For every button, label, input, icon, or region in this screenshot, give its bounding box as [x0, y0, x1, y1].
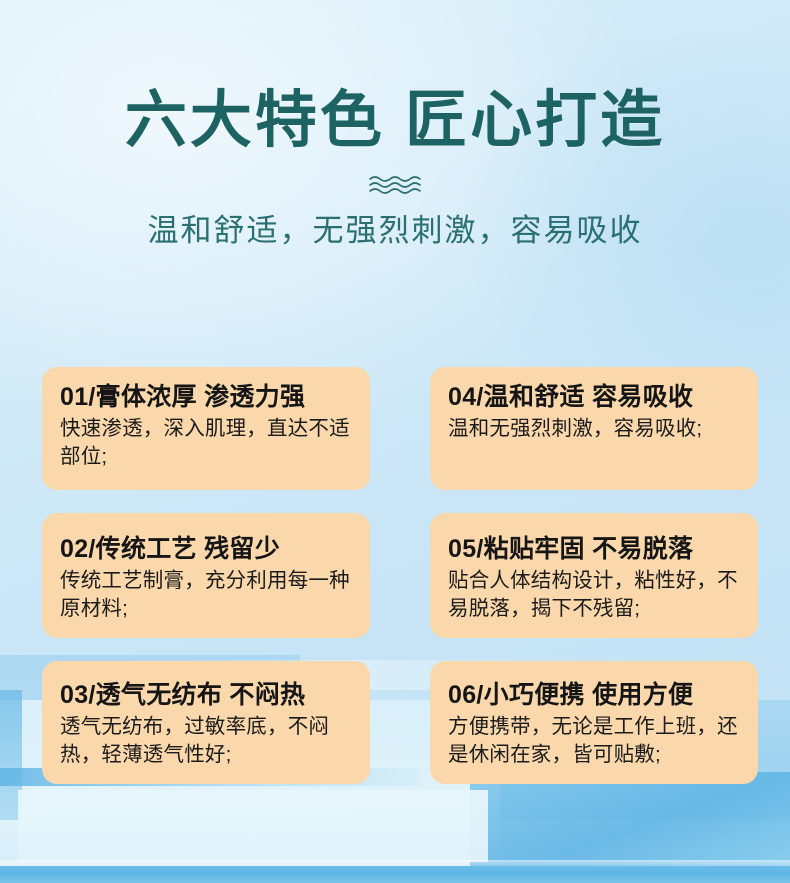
feature-title: 03/透气无纺布 不闷热	[60, 679, 354, 711]
feature-card-06: 06/小巧便携 使用方便 方便携带，无论是工作上班，还是休闲在家，皆可贴敷;	[430, 661, 758, 784]
feature-description: 温和无强烈刺激，容易吸收;	[448, 415, 742, 443]
geometric-stripe-left	[0, 690, 22, 820]
feature-description: 方便携带，无论是工作上班，还是休闲在家，皆可贴敷;	[448, 713, 742, 770]
bottom-rail	[0, 866, 790, 883]
feature-card-01: 01/膏体浓厚 渗透力强 快速渗透，深入肌理，直达不适部位;	[42, 367, 370, 490]
feature-description: 传统工艺制膏，充分利用每一种原材料;	[60, 567, 354, 624]
page-subtitle: 温和舒适，无强烈刺激，容易吸收	[0, 211, 790, 251]
feature-card-04: 04/温和舒适 容易吸收 温和无强烈刺激，容易吸收;	[430, 367, 758, 490]
feature-card-grid: 01/膏体浓厚 渗透力强 快速渗透，深入肌理，直达不适部位; 04/温和舒适 容…	[42, 367, 758, 784]
feature-title: 02/传统工艺 残留少	[60, 533, 354, 565]
feature-description: 贴合人体结构设计，粘性好，不易脱落，揭下不残留;	[448, 567, 742, 624]
feature-description: 快速渗透，深入肌理，直达不适部位;	[60, 415, 354, 472]
feature-title: 05/粘贴牢固 不易脱落	[448, 533, 742, 565]
feature-card-03: 03/透气无纺布 不闷热 透气无纺布，过敏率底，不闷热，轻薄透气性好;	[42, 661, 370, 784]
feature-title: 06/小巧便携 使用方便	[448, 679, 742, 711]
promo-page: 六大特色 匠心打造 温和舒适，无强烈刺激，容易吸收 01/膏体浓厚 渗透力强 快…	[0, 0, 790, 883]
feature-card-02: 02/传统工艺 残留少 传统工艺制膏，充分利用每一种原材料;	[42, 513, 370, 638]
feature-title: 01/膏体浓厚 渗透力强	[60, 381, 354, 413]
wave-divider-icon	[366, 173, 424, 197]
geometric-overlay-bottom-left	[18, 790, 488, 862]
bottom-rail-highlight	[0, 860, 790, 867]
geometric-block-bottom-right	[470, 772, 790, 868]
feature-card-05: 05/粘贴牢固 不易脱落 贴合人体结构设计，粘性好，不易脱落，揭下不残留;	[430, 513, 758, 638]
page-title: 六大特色 匠心打造	[0, 86, 790, 155]
feature-title: 04/温和舒适 容易吸收	[448, 381, 742, 413]
feature-description: 透气无纺布，过敏率底，不闷热，轻薄透气性好;	[60, 713, 354, 770]
page-header: 六大特色 匠心打造 温和舒适，无强烈刺激，容易吸收	[0, 0, 790, 252]
